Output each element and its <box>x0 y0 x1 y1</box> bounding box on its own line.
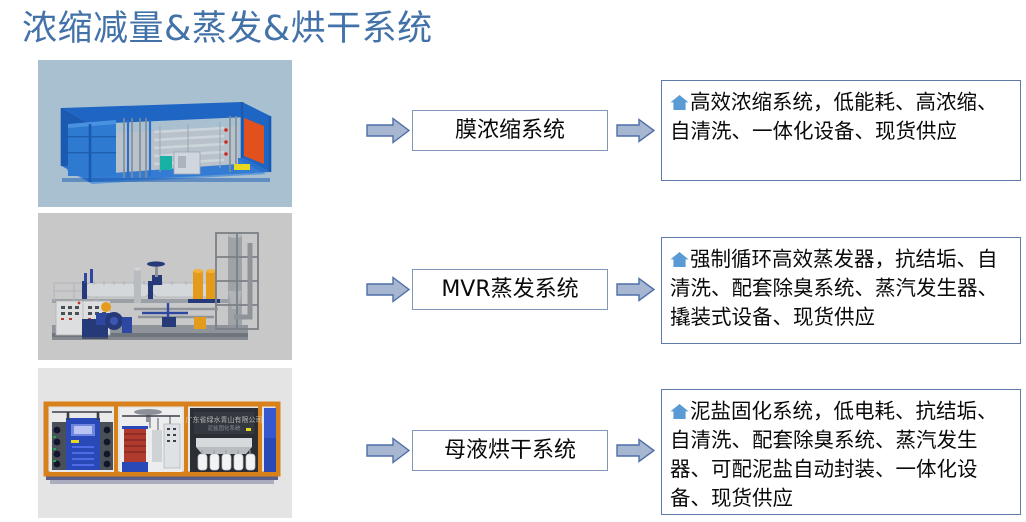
stage-label-text: 母液烘干系统 <box>444 439 576 463</box>
description-box-membrane-concentration: 高效浓缩系统，低能耗、高浓缩、自清洗、一体化设备、现货供应 <box>661 80 1021 181</box>
arrow-label-to-description-1 <box>616 118 655 143</box>
svg-text:泥盐固化系统: 泥盐固化系统 <box>207 424 241 432</box>
product-image-mother-liquor-drying: 广东省绿水青山有限公司 泥盐固化系统 <box>38 368 292 518</box>
description-text-wrapper: 泥盐固化系统，低电耗、抗结垢、自清洗、配套除臭系统、蒸汽发生器、可配泥盐自动封装… <box>670 397 1011 513</box>
stage-label-mother-liquor-drying[interactable]: 母液烘干系统 <box>412 430 608 471</box>
description-text: 泥盐固化系统，低电耗、抗结垢、自清洗、配套除臭系统、蒸汽发生器、可配泥盐自动封装… <box>670 399 998 510</box>
stage-label-text: MVR蒸发系统 <box>441 278 578 302</box>
description-box-mvr-evaporator: 强制循环高效蒸发器，抗结垢、自清洗、配套除臭系统、蒸汽发生器、撬装式设备、现货供… <box>661 237 1021 344</box>
product-image-membrane-concentration <box>38 60 292 207</box>
arrow-image-to-label-3 <box>366 437 410 464</box>
arrow-image-to-label-2 <box>366 276 410 303</box>
svg-text:广东省绿水青山有限公司: 广东省绿水青山有限公司 <box>186 415 263 424</box>
arrow-image-to-label-1 <box>366 117 410 144</box>
stage-label-membrane-concentration[interactable]: 膜浓缩系统 <box>412 110 608 151</box>
arrow-label-to-description-3 <box>616 438 655 463</box>
product-image-mvr-evaporator <box>38 213 292 360</box>
stage-label-mvr-evaporation[interactable]: MVR蒸发系统 <box>412 269 608 310</box>
page-title: 浓缩减量&蒸发&烘干系统 <box>22 8 433 50</box>
description-text: 强制循环高效蒸发器，抗结垢、自清洗、配套除臭系统、蒸汽发生器、撬装式设备、现货供… <box>670 247 998 329</box>
home-icon <box>670 251 689 268</box>
description-text-wrapper: 高效浓缩系统，低能耗、高浓缩、自清洗、一体化设备、现货供应 <box>670 88 1011 146</box>
home-icon <box>670 94 689 111</box>
arrow-label-to-description-2 <box>616 277 655 302</box>
stage-label-text: 膜浓缩系统 <box>455 119 565 143</box>
home-icon <box>670 403 689 420</box>
description-text: 高效浓缩系统，低能耗、高浓缩、自清洗、一体化设备、现货供应 <box>670 90 998 143</box>
description-text-wrapper: 强制循环高效蒸发器，抗结垢、自清洗、配套除臭系统、蒸汽发生器、撬装式设备、现货供… <box>670 245 1011 332</box>
description-box-mother-liquor-drying: 泥盐固化系统，低电耗、抗结垢、自清洗、配套除臭系统、蒸汽发生器、可配泥盐自动封装… <box>661 389 1021 515</box>
